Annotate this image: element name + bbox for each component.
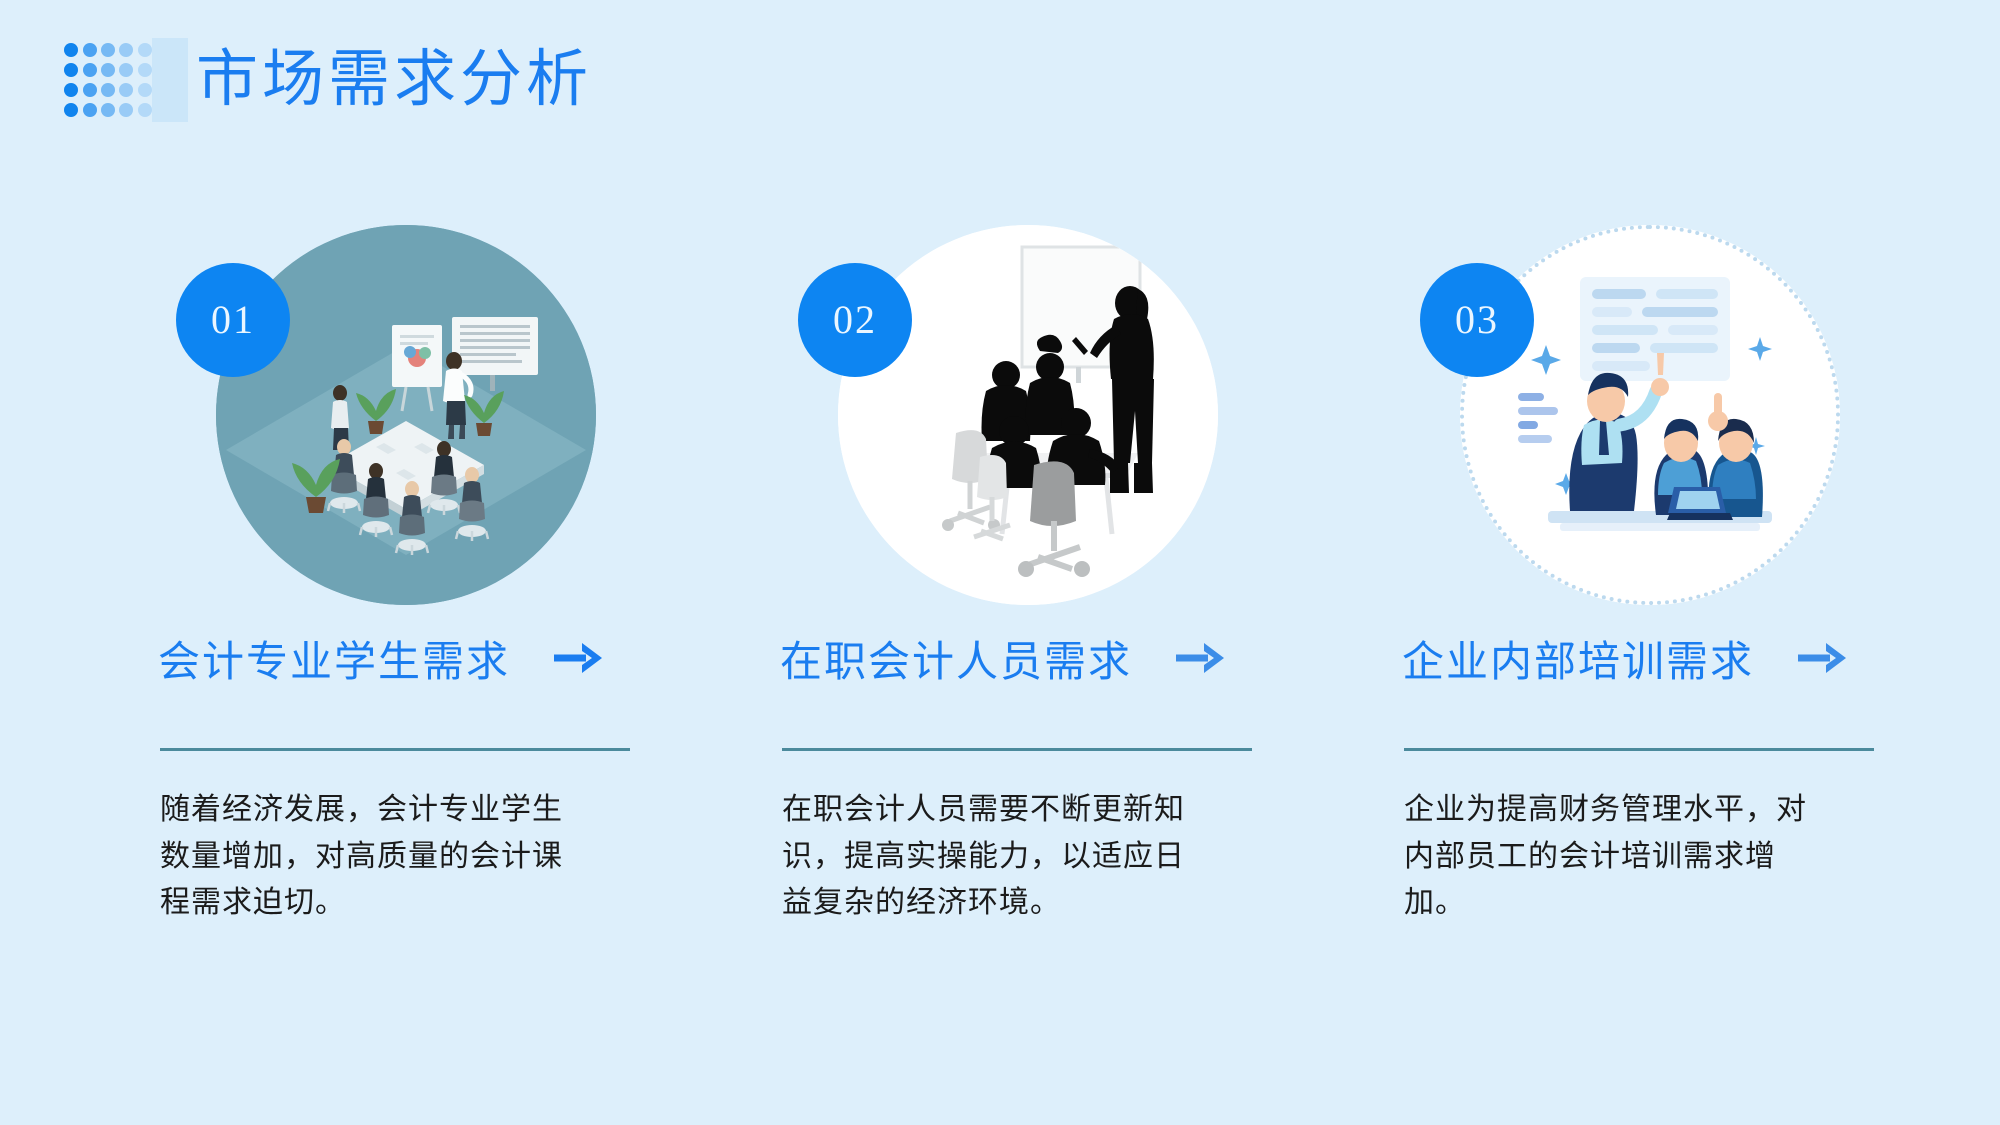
- card-01-body: 随着经济发展，会计专业学生数量增加，对高质量的会计课程需求迫切。: [160, 787, 580, 927]
- card-03[interactable]: 03 企业内部培训需求 企业为提高财务管理水平，对内部员工的会计培训需求增加。: [1392, 175, 1952, 1075]
- card-03-header-row: 企业内部培训需求: [1402, 623, 1942, 693]
- card-02-number-badge: 02: [798, 263, 912, 377]
- card-02-body: 在职会计人员需要不断更新知识，提高实操能力，以适应日益复杂的经济环境。: [782, 787, 1202, 927]
- arrow-right-icon[interactable]: [552, 638, 606, 678]
- card-02[interactable]: 02 在职会计人员需求 在职会计人员需要不断更新知识，提高实操能力，以适应日益复…: [770, 175, 1330, 1075]
- card-03-media: 03: [1420, 225, 1800, 605]
- card-01-heading: 会计专业学生需求: [158, 628, 510, 689]
- card-01-divider: [160, 748, 630, 751]
- card-01-header-row: 会计专业学生需求: [158, 623, 698, 693]
- card-02-number: 02: [833, 300, 877, 340]
- dot-grid-decoration: [62, 40, 154, 120]
- slide-root: 市场需求分析: [0, 0, 2000, 1125]
- page-title: 市场需求分析: [196, 30, 592, 130]
- card-03-number: 03: [1455, 300, 1499, 340]
- card-03-heading: 企业内部培训需求: [1402, 628, 1754, 689]
- card-02-heading: 在职会计人员需求: [780, 628, 1132, 689]
- card-03-body: 企业为提高财务管理水平，对内部员工的会计培训需求增加。: [1404, 787, 1824, 927]
- card-02-divider: [782, 748, 1252, 751]
- card-02-header-row: 在职会计人员需求: [780, 623, 1320, 693]
- card-01-number: 01: [211, 300, 255, 340]
- card-01-media: 01: [176, 225, 556, 605]
- card-03-divider: [1404, 748, 1874, 751]
- card-group: 01 会计专业学生需求 随着经济发展，会计专业学生数量增加，对高质量的会计课程需…: [0, 175, 2000, 1075]
- card-01-number-badge: 01: [176, 263, 290, 377]
- card-03-number-badge: 03: [1420, 263, 1534, 377]
- arrow-right-icon[interactable]: [1796, 638, 1850, 678]
- card-01[interactable]: 01 会计专业学生需求 随着经济发展，会计专业学生数量增加，对高质量的会计课程需…: [148, 175, 708, 1075]
- slide-header: 市场需求分析: [0, 0, 2000, 175]
- title-accent-bar: [152, 38, 188, 122]
- arrow-right-icon[interactable]: [1174, 638, 1228, 678]
- card-02-media: 02: [798, 225, 1178, 605]
